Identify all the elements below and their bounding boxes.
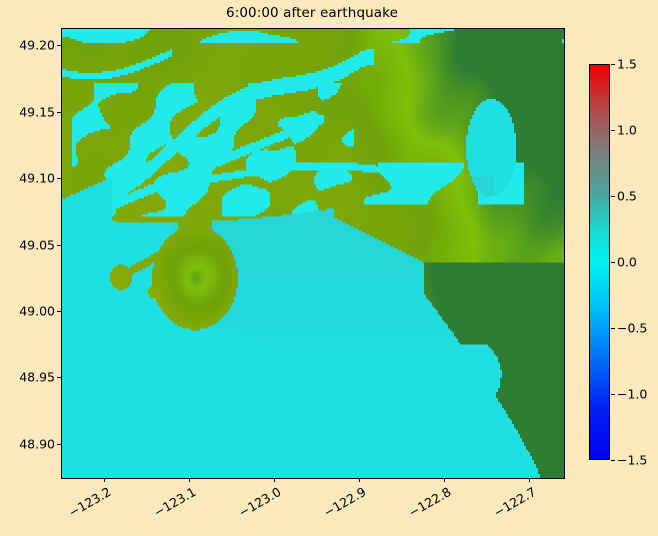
colorbar-tick-mark	[611, 64, 615, 65]
y-tick-label: 49.20	[3, 38, 55, 53]
y-axis-ticks: 49.2049.1549.1049.0549.0048.9548.90	[0, 0, 55, 536]
y-tick-label: 48.95	[3, 370, 55, 385]
x-tick-label: −123.2	[52, 484, 113, 528]
x-tick-label: −122.8	[392, 484, 453, 528]
y-tick-mark	[57, 444, 61, 445]
colorbar-tick-mark	[611, 460, 615, 461]
y-tick-label: 49.10	[3, 171, 55, 186]
colorbar-tick-mark	[611, 262, 615, 263]
x-tick-mark	[444, 478, 445, 482]
colorbar-tick-label: 1.5	[617, 57, 637, 72]
colorbar-tick-mark	[611, 196, 615, 197]
colorbar-tick-label: 0.5	[617, 189, 637, 204]
x-tick-label: −122.9	[307, 484, 368, 528]
colorbar-tick-label: 1.0	[617, 123, 637, 138]
colorbar-tick-label: −1.0	[617, 387, 647, 402]
colorbar-tick-mark	[611, 328, 615, 329]
y-tick-mark	[57, 311, 61, 312]
x-tick-label: −122.7	[477, 484, 538, 528]
colorbar-tick-mark	[611, 130, 615, 131]
colorbar-tick-label: −1.5	[617, 453, 647, 468]
matplotlib-figure: 6:00:00 after earthquake 49.2049.1549.10…	[0, 0, 658, 536]
y-tick-label: 49.05	[3, 237, 55, 252]
plot-title: 6:00:00 after earthquake	[61, 5, 563, 21]
x-tick-mark	[529, 478, 530, 482]
y-tick-label: 49.15	[3, 104, 55, 119]
colorbar-tick-label: 0.0	[617, 255, 637, 270]
x-tick-label: −123.1	[137, 484, 198, 528]
map-axes[interactable]	[61, 28, 565, 479]
y-tick-mark	[57, 112, 61, 113]
y-tick-mark	[57, 377, 61, 378]
x-tick-label: −123.0	[222, 484, 283, 528]
colorbar-tick-label: −0.5	[617, 321, 647, 336]
y-tick-mark	[57, 45, 61, 46]
elevation-heatmap-raster	[62, 29, 564, 478]
y-tick-label: 49.00	[3, 303, 55, 318]
colorbar[interactable]	[589, 64, 610, 460]
y-tick-mark	[57, 178, 61, 179]
x-tick-mark	[274, 478, 275, 482]
colorbar-tick-mark	[611, 394, 615, 395]
colorbar-gradient	[589, 64, 610, 460]
x-tick-mark	[104, 478, 105, 482]
x-tick-mark	[189, 478, 190, 482]
y-tick-mark	[57, 245, 61, 246]
x-tick-mark	[359, 478, 360, 482]
y-tick-label: 48.90	[3, 436, 55, 451]
